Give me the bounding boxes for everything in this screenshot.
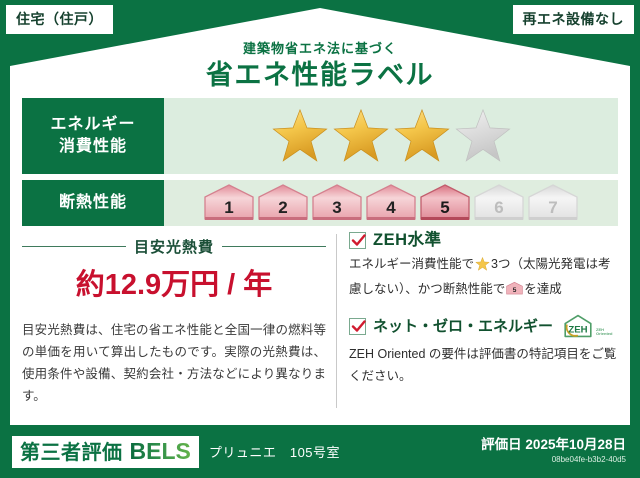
- cost-column: 目安光熱費 約12.9万円 / 年 目安光熱費は、住宅の省エネ性能と全国一律の燃…: [22, 232, 336, 418]
- zeh-house-icon: ZEH: [562, 313, 594, 339]
- cost-rule-left: [22, 246, 126, 247]
- energy-performance-value: [164, 98, 618, 174]
- energy-performance-label-line2: 消費性能: [59, 136, 127, 158]
- star-icon-inline: [475, 257, 490, 279]
- insulation-house-2: 2: [257, 183, 309, 223]
- zeh-standard-title: ZEH水準: [373, 232, 442, 249]
- footer-bar: 第三者評価 BELS プリュニエ 105号室 評価日 2025年10月28日 0…: [0, 425, 640, 478]
- energy-performance-label: エネルギー 消費性能: [22, 98, 164, 174]
- zeh-logo-sub-line2: Oriented: [596, 331, 612, 336]
- zeh-netzero-title: ネット・ゼロ・エネルギー: [373, 319, 553, 334]
- cost-heading: 目安光熱費: [22, 236, 326, 257]
- cost-heading-text: 目安光熱費: [134, 236, 214, 257]
- building-name: プリュニエ 105号室: [209, 442, 340, 461]
- zeh-standard-text-end: を達成: [524, 282, 562, 296]
- tag-renewable-equipment: 再エネ設備なし: [513, 5, 635, 34]
- cost-rule-right: [222, 246, 326, 247]
- energy-label-card: 住宅（住戸） 再エネ設備なし 建築物省エネ法に基づく 省エネ性能ラベル エネルギ…: [0, 0, 640, 478]
- energy-performance-label-line1: エネルギー: [50, 114, 135, 136]
- check-icon: [351, 319, 366, 334]
- svg-text:1: 1: [224, 198, 233, 217]
- svg-text:3: 3: [332, 198, 341, 217]
- insulation-performance-label: 断熱性能: [22, 180, 164, 226]
- insulation-house-3: 3: [311, 183, 363, 223]
- bels-logo: BELS: [130, 440, 191, 463]
- energy-performance-row: エネルギー 消費性能: [22, 98, 618, 174]
- insulation-house-6: 6: [473, 183, 525, 223]
- star-icon-empty: [454, 108, 512, 164]
- zeh-logo-subtext: ZEH Oriented: [596, 328, 612, 336]
- check-icon: [351, 233, 366, 248]
- label-body-card: エネルギー 消費性能: [10, 88, 630, 425]
- tag-building-type: 住宅（住戸）: [6, 5, 113, 34]
- zeh-standard-block: ZEH水準 エネルギー消費性能で3つ（太陽光発電は考慮しない）、かつ断熱性能で5…: [349, 232, 618, 303]
- evaluation-date: 評価日 2025年10月28日: [481, 437, 626, 453]
- zeh-standard-heading: ZEH水準: [349, 232, 618, 249]
- svg-text:2: 2: [278, 198, 287, 217]
- star-icon-filled: [393, 108, 451, 164]
- insulation-performance-row: 断熱性能 1: [22, 180, 618, 226]
- bels-plate: 第三者評価 BELS: [12, 436, 199, 468]
- lower-section: 目安光熱費 約12.9万円 / 年 目安光熱費は、住宅の省エネ性能と全国一律の燃…: [22, 232, 618, 418]
- insulation-house-7: 7: [527, 183, 579, 223]
- insulation-performance-value: 1 2 3 4: [164, 180, 618, 226]
- evaluation-id: 08be04fe-b3b2-40d5: [481, 455, 626, 465]
- insulation-badge-inline: 5: [506, 281, 523, 304]
- insulation-level-scale: 1 2 3 4: [203, 183, 579, 223]
- zeh-netzero-body: ZEH Oriented の要件は評価書の特記項目をご覧ください。: [349, 344, 618, 387]
- svg-text:7: 7: [548, 198, 557, 217]
- footer-meta: 評価日 2025年10月28日 08be04fe-b3b2-40d5: [481, 437, 626, 466]
- zeh-netzero-block: ネット・ゼロ・エネルギー ZEH ZEH Oriented: [349, 313, 618, 387]
- third-party-eval-label: 第三者評価: [20, 443, 123, 463]
- svg-text:4: 4: [386, 198, 396, 217]
- star-icon-filled: [332, 108, 390, 164]
- insulation-house-5: 5: [419, 183, 471, 223]
- svg-text:6: 6: [494, 198, 503, 217]
- checkbox-zeh-standard[interactable]: [349, 232, 366, 249]
- zeh-column: ZEH水準 エネルギー消費性能で3つ（太陽光発電は考慮しない）、かつ断熱性能で5…: [337, 232, 618, 418]
- cost-note: 目安光熱費は、住宅の省エネ性能と全国一律の燃料等の単価を用いて算出したものです。…: [22, 320, 326, 408]
- insulation-house-4: 4: [365, 183, 417, 223]
- zeh-logo: ZEH ZEH Oriented: [562, 313, 612, 339]
- svg-text:5: 5: [513, 287, 517, 294]
- insulation-house-1: 1: [203, 183, 255, 223]
- zeh-standard-body: エネルギー消費性能で3つ（太陽光発電は考慮しない）、かつ断熱性能で5を達成: [349, 254, 618, 303]
- zeh-standard-text-before: エネルギー消費性能で: [349, 257, 474, 271]
- checkbox-zeh-netzero[interactable]: [349, 318, 366, 335]
- svg-text:5: 5: [440, 198, 449, 217]
- zeh-netzero-heading: ネット・ゼロ・エネルギー ZEH ZEH Oriented: [349, 313, 618, 339]
- cost-amount: 約12.9万円 / 年: [22, 271, 326, 300]
- star-rating: [271, 108, 512, 164]
- star-icon-filled: [271, 108, 329, 164]
- svg-text:ZEH: ZEH: [568, 324, 587, 335]
